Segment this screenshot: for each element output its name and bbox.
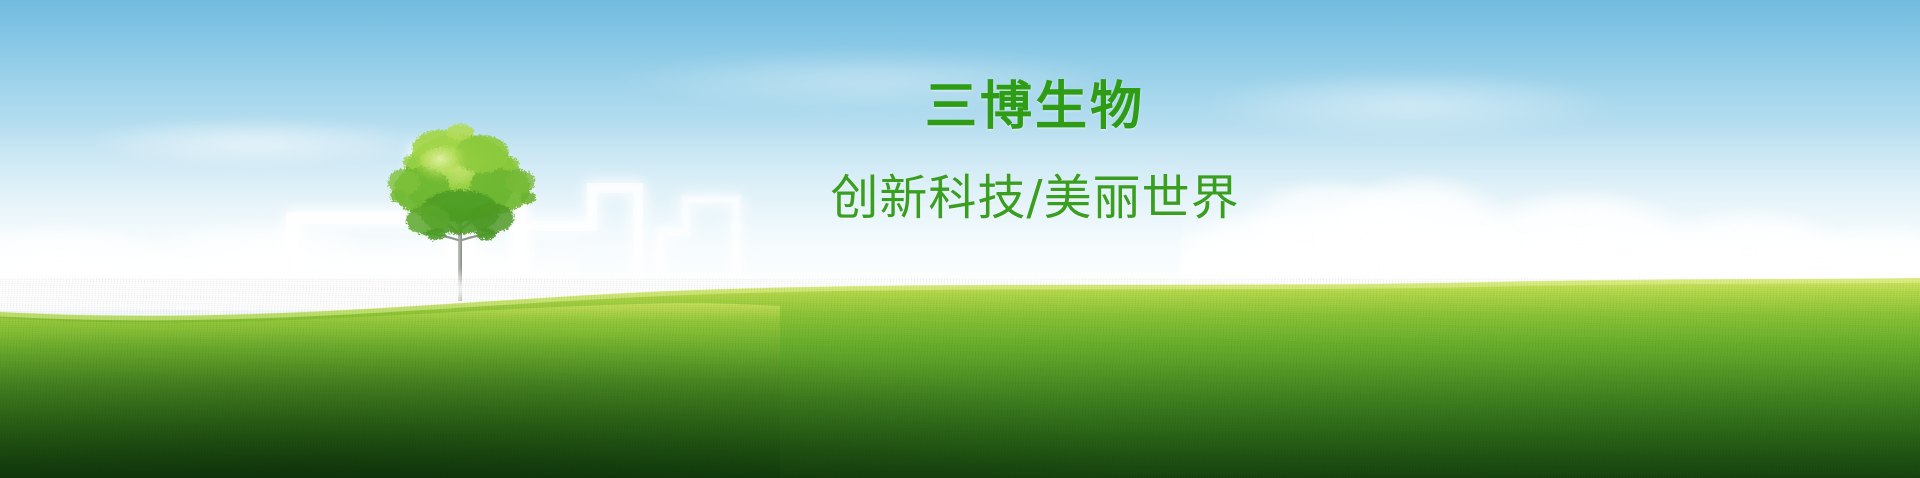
hero-banner: 三博生物 创新科技/美丽世界 (0, 0, 1920, 478)
cloud-wispy-right (1150, 60, 1670, 150)
cloud-wispy-top (560, 40, 1180, 120)
grass-vignette (0, 266, 1920, 478)
tree-canopy (388, 130, 535, 235)
grass-field (0, 266, 1920, 478)
